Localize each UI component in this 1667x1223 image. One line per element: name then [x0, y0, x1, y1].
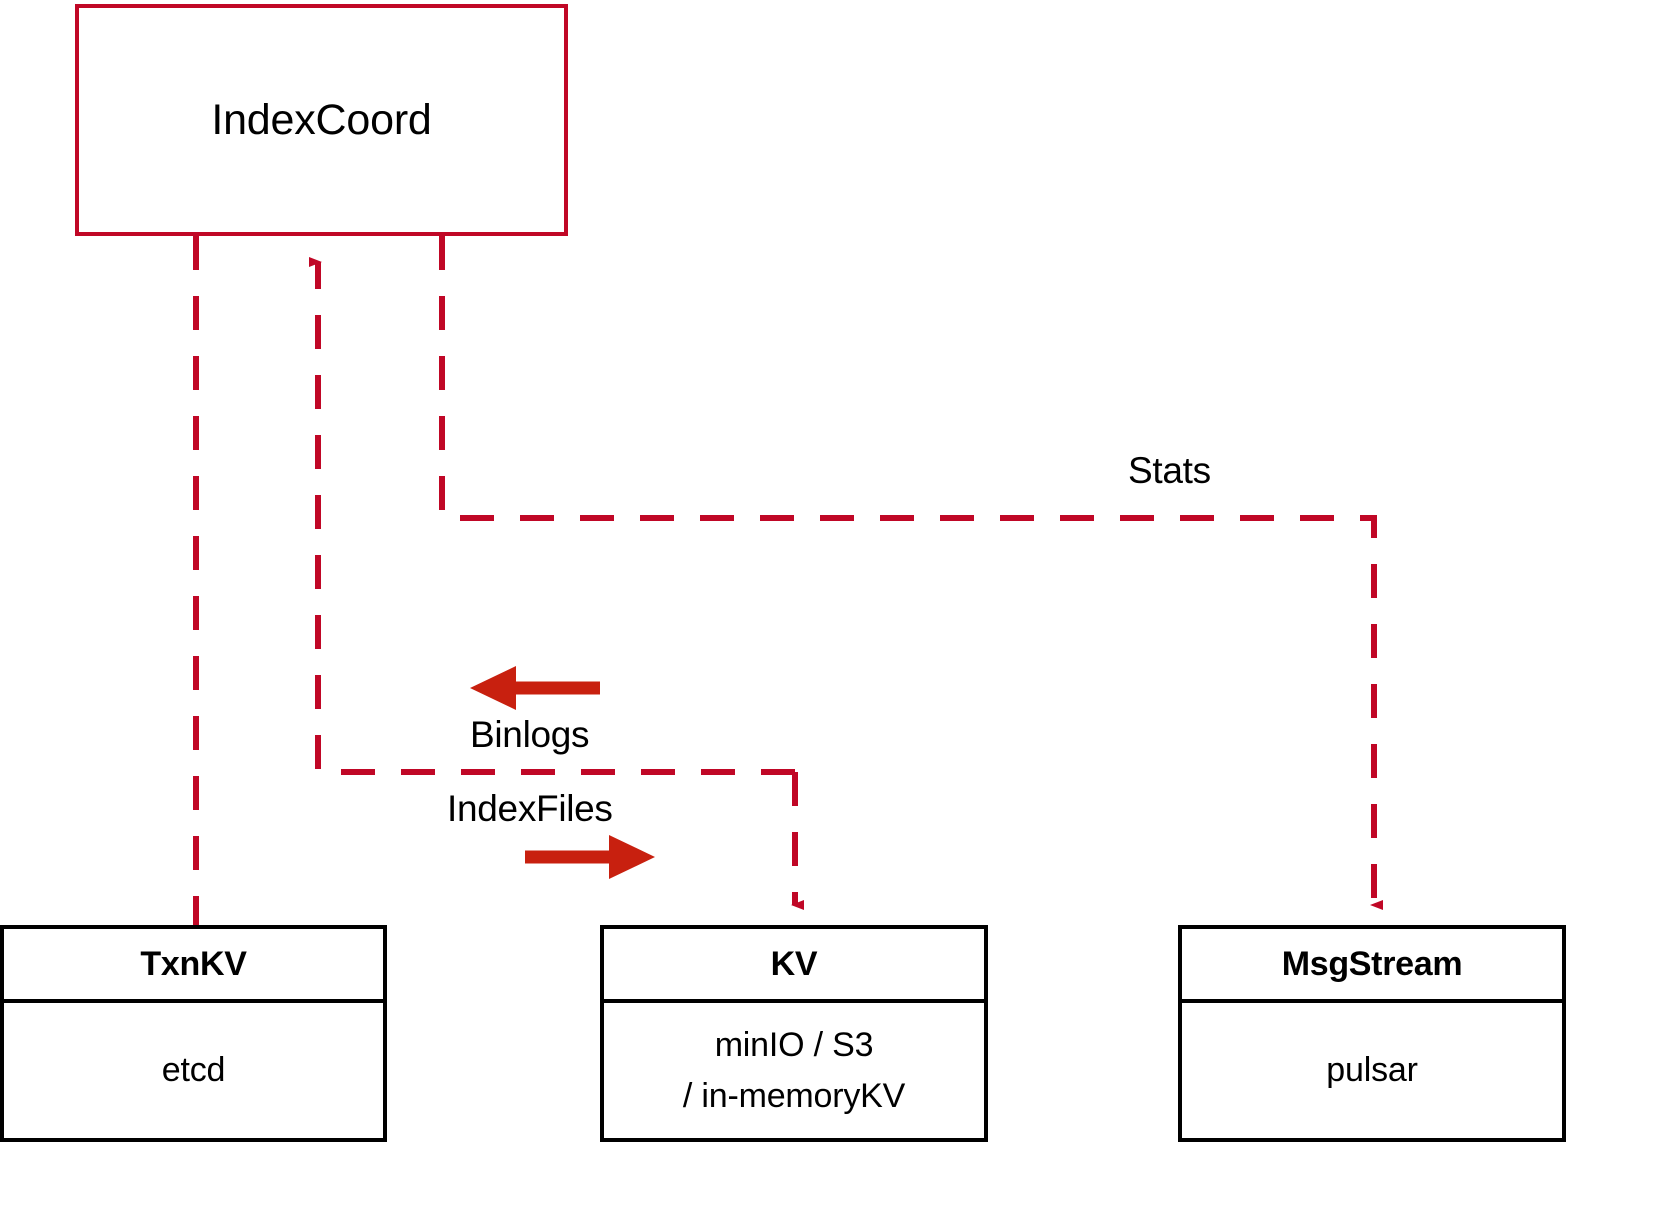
kv-body: minIO / S3 / in-memoryKV: [604, 1003, 984, 1138]
edge-label-indexfiles: IndexFiles: [447, 790, 613, 827]
msgstream-impl-line-1: pulsar: [1326, 1049, 1417, 1092]
txnkv-header-label: TxnKV: [140, 945, 246, 984]
indexfiles-arrow-icon: [525, 835, 655, 879]
kv-header: KV: [604, 929, 984, 1003]
kv-impl-line-1: minIO / S3: [715, 1024, 874, 1067]
node-msgstream[interactable]: MsgStream pulsar: [1178, 925, 1566, 1142]
binlogs-arrow-icon: [470, 666, 600, 710]
txnkv-body: etcd: [4, 1003, 383, 1138]
node-kv[interactable]: KV minIO / S3 / in-memoryKV: [600, 925, 988, 1142]
msgstream-header: MsgStream: [1182, 929, 1562, 1003]
node-indexcoord[interactable]: IndexCoord: [75, 4, 568, 236]
diagram-canvas: IndexCoord TxnKV etcd KV minIO / S3 / in…: [0, 0, 1667, 1223]
node-txnkv[interactable]: TxnKV etcd: [0, 925, 387, 1142]
edge-label-stats: Stats: [1128, 452, 1211, 489]
kv-header-label: KV: [771, 945, 818, 984]
msgstream-header-label: MsgStream: [1282, 945, 1463, 984]
msgstream-body: pulsar: [1182, 1003, 1562, 1138]
kv-impl-line-2: / in-memoryKV: [683, 1075, 905, 1118]
edge-label-binlogs: Binlogs: [470, 716, 589, 753]
indexcoord-label: IndexCoord: [211, 99, 431, 142]
txnkv-header: TxnKV: [4, 929, 383, 1003]
txnkv-impl-line-1: etcd: [162, 1049, 225, 1092]
